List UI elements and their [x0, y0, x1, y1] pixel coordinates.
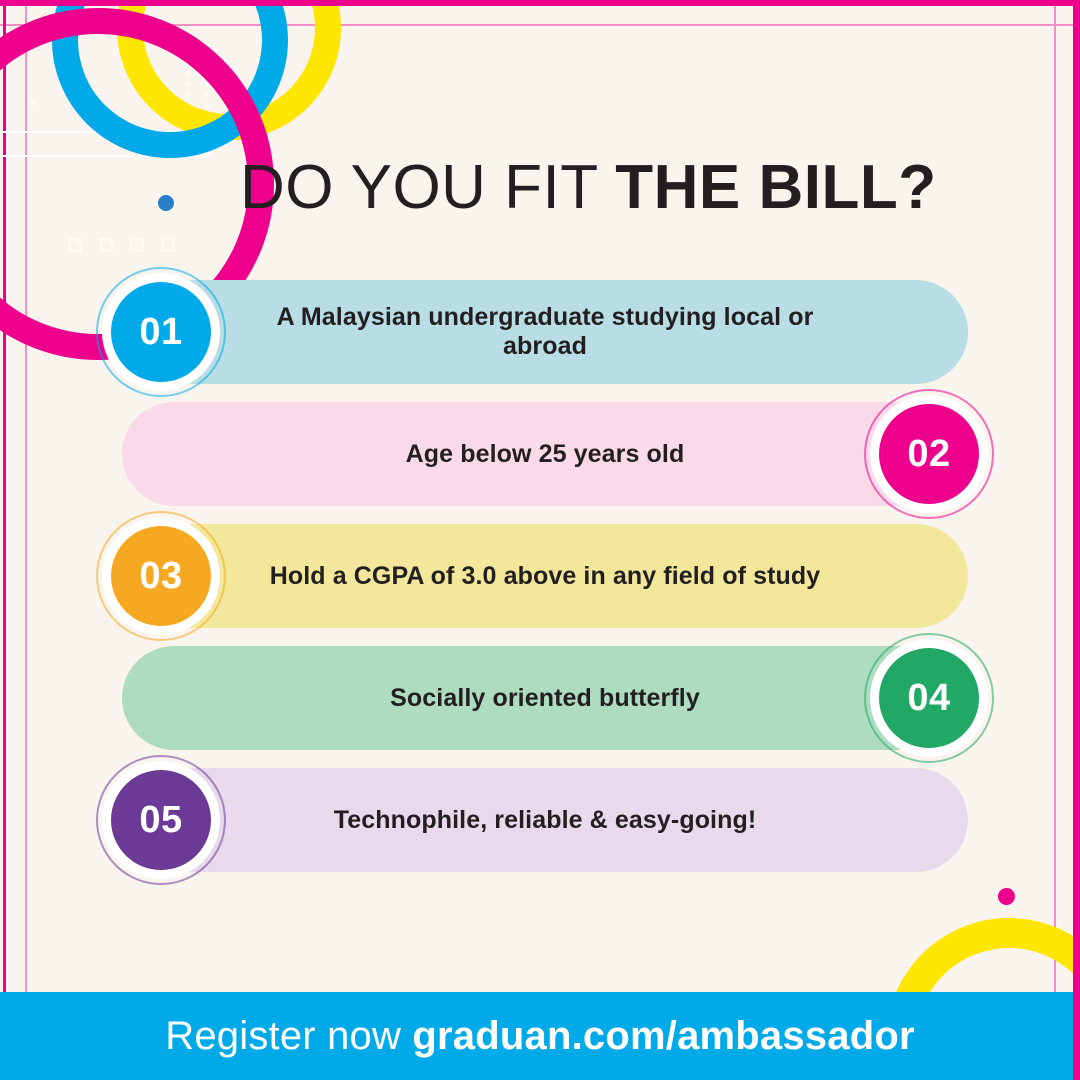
criteria-number-badge: 01 [96, 267, 226, 397]
criteria-row: A Malaysian undergraduate studying local… [0, 280, 1080, 384]
criteria-pill: A Malaysian undergraduate studying local… [122, 280, 968, 384]
frame-bar-top [0, 0, 1080, 6]
criteria-text: A Malaysian undergraduate studying local… [122, 303, 968, 361]
footer-cta-text: Register now graduan.com/ambassador [165, 1014, 915, 1059]
criteria-number-badge: 03 [96, 511, 226, 641]
criteria-pill: Age below 25 years old [122, 402, 968, 506]
frame-bar-right [1073, 0, 1080, 1080]
criteria-number: 05 [139, 799, 182, 842]
footer-cta-bar[interactable]: Register now graduan.com/ambassador [0, 992, 1080, 1080]
criteria-text: Technophile, reliable & easy-going! [214, 806, 877, 835]
criteria-pill: Socially oriented butterfly [122, 646, 968, 750]
decorative-blue-dot [158, 195, 174, 211]
criteria-pill: Hold a CGPA of 3.0 above in any field of… [122, 524, 968, 628]
criteria-row: Hold a CGPA of 3.0 above in any field of… [0, 524, 1080, 628]
criteria-number: 02 [907, 433, 950, 476]
criteria-number: 04 [907, 677, 950, 720]
badge-inner-disc: 01 [111, 282, 211, 382]
criteria-number-badge: 05 [96, 755, 226, 885]
criteria-row: Age below 25 years old02 [0, 402, 1080, 506]
page-title-bold: THE BILL? [615, 153, 936, 222]
criteria-row: Socially oriented butterfly04 [0, 646, 1080, 750]
criteria-list: A Malaysian undergraduate studying local… [0, 280, 1080, 890]
footer-cta-regular: Register now [165, 1014, 412, 1058]
criteria-number: 03 [139, 555, 182, 598]
criteria-text: Hold a CGPA of 3.0 above in any field of… [150, 562, 941, 591]
poster-canvas: DO YOU FIT THE BILL? A Malaysian undergr… [0, 0, 1080, 1080]
badge-inner-disc: 05 [111, 770, 211, 870]
criteria-number-badge: 04 [864, 633, 994, 763]
criteria-text: Age below 25 years old [286, 440, 805, 469]
footer-cta-url: graduan.com/ambassador [412, 1014, 914, 1058]
page-title-regular: DO YOU FIT [240, 153, 615, 222]
decorative-magenta-dot [998, 888, 1015, 905]
badge-inner-disc: 02 [879, 404, 979, 504]
criteria-number-badge: 02 [864, 389, 994, 519]
page-title: DO YOU FIT THE BILL? [240, 152, 937, 223]
criteria-pill: Technophile, reliable & easy-going! [122, 768, 968, 872]
badge-inner-disc: 04 [879, 648, 979, 748]
criteria-row: Technophile, reliable & easy-going!05 [0, 768, 1080, 872]
criteria-text: Socially oriented butterfly [270, 684, 820, 713]
badge-inner-disc: 03 [111, 526, 211, 626]
criteria-number: 01 [139, 311, 182, 354]
